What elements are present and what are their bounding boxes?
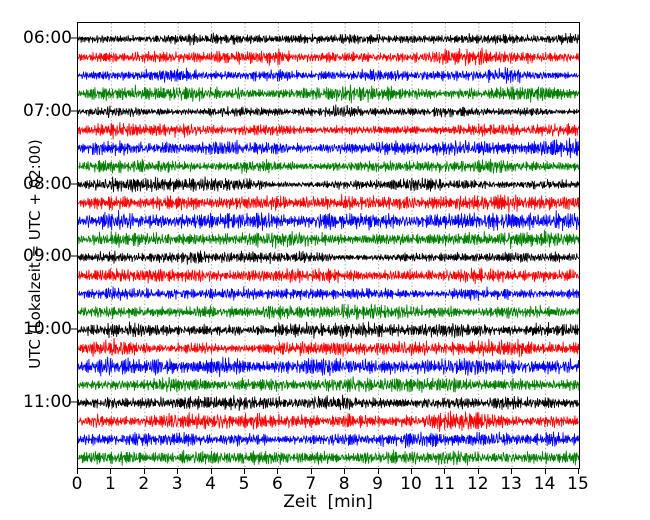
trace-1000 bbox=[78, 322, 579, 339]
trace-0745 bbox=[78, 159, 579, 174]
trace-0600 bbox=[78, 33, 579, 46]
seismogram-figure: UTC (Lokalzeit = UTC + 02:00) 06:0007:00… bbox=[0, 0, 650, 520]
trace-1145 bbox=[78, 450, 579, 466]
trace-0845 bbox=[78, 230, 579, 249]
x-tick-label-15: 15 bbox=[558, 474, 598, 494]
trace-1015 bbox=[78, 338, 579, 357]
y-tick-label-0800: 08:00 bbox=[0, 174, 72, 194]
x-axis-label: Zeit [min] bbox=[77, 492, 579, 512]
trace-0715 bbox=[78, 122, 579, 139]
trace-0830 bbox=[78, 210, 579, 231]
trace-0800 bbox=[78, 176, 579, 192]
seismic-traces bbox=[78, 23, 579, 468]
plot-area bbox=[77, 22, 580, 469]
trace-0930 bbox=[78, 286, 579, 300]
trace-0700 bbox=[78, 105, 579, 118]
y-tick-label-0600: 06:00 bbox=[0, 28, 72, 48]
y-axis-tick-labels: 06:0007:0008:0009:0010:0011:00 bbox=[0, 22, 72, 467]
trace-0630 bbox=[78, 67, 579, 84]
trace-1030 bbox=[78, 357, 579, 377]
y-tick-label-1000: 10:00 bbox=[0, 319, 72, 339]
trace-0900 bbox=[78, 251, 579, 265]
trace-1045 bbox=[78, 376, 579, 392]
trace-1115 bbox=[78, 411, 579, 432]
trace-1100 bbox=[78, 395, 579, 411]
trace-0815 bbox=[78, 194, 579, 213]
trace-0730 bbox=[78, 138, 579, 158]
trace-0645 bbox=[78, 85, 579, 104]
y-tick-label-0900: 09:00 bbox=[0, 246, 72, 266]
trace-0945 bbox=[78, 304, 579, 320]
y-tick-label-0700: 07:00 bbox=[0, 101, 72, 121]
trace-1130 bbox=[78, 432, 579, 448]
trace-0915 bbox=[78, 268, 579, 285]
y-tick-label-1100: 11:00 bbox=[0, 392, 72, 412]
trace-0615 bbox=[78, 48, 579, 66]
